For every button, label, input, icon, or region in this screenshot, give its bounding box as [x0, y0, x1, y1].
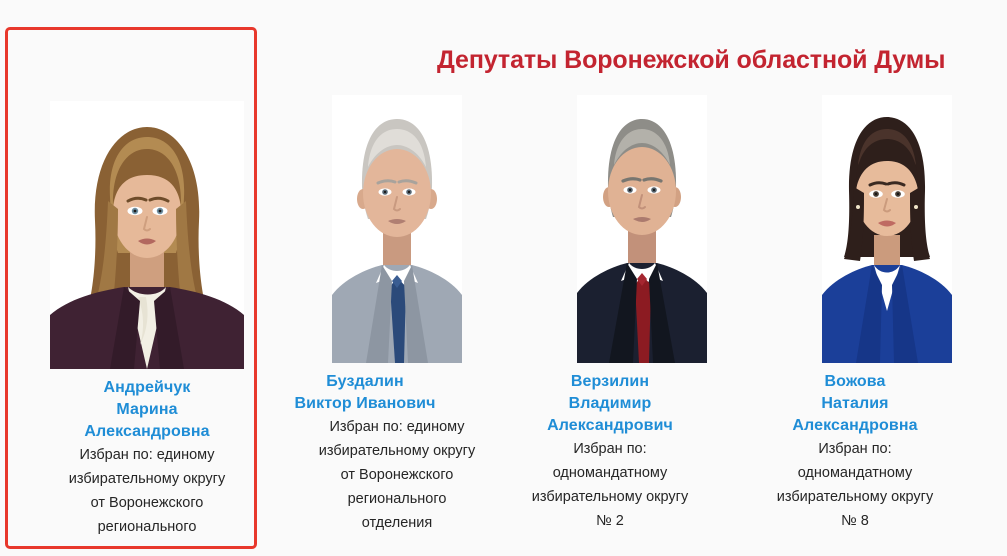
name-line: Марина: [50, 399, 244, 421]
deputy-name-buzdalin[interactable]: Буздалин Виктор Иванович: [265, 371, 465, 415]
desc-line: от Воронежского: [294, 463, 500, 487]
desc-line: Избран по: единому: [44, 443, 250, 467]
desc-line: № 8: [755, 509, 955, 533]
desc-line: Избран по:: [510, 437, 710, 461]
deputy-name-andreychuk[interactable]: Андрейчук Марина Александровна: [50, 377, 244, 443]
deputy-card-andreychuk[interactable]: Андрейчук Марина Александровна Избран по…: [50, 101, 244, 539]
desc-line: одномандатному: [755, 461, 955, 485]
deputy-photo-verzilin[interactable]: [577, 95, 707, 363]
deputy-card-vozhova[interactable]: Вожова Наталия Александровна Избран по: …: [790, 95, 984, 533]
desc-line: избирательному округу: [755, 485, 955, 509]
desc-line: регионального: [44, 515, 250, 539]
desc-line: № 2: [510, 509, 710, 533]
deputy-photo-vozhova[interactable]: [822, 95, 952, 363]
deputies-page: Депутаты Воронежской областной Думы: [0, 0, 1007, 556]
name-line: Владимир: [510, 393, 710, 415]
name-line: Андрейчук: [50, 377, 244, 399]
deputy-photo-andreychuk[interactable]: [50, 101, 244, 369]
name-line: Александровна: [50, 421, 244, 443]
desc-line: одномандатному: [510, 461, 710, 485]
name-line: Александрович: [510, 415, 710, 437]
deputy-photo-buzdalin[interactable]: [332, 95, 462, 363]
desc-line: избирательному округу: [44, 467, 250, 491]
desc-line: регионального: [294, 487, 500, 511]
page-title: Депутаты Воронежской областной Думы: [437, 45, 1007, 75]
name-line: Верзилин: [510, 371, 710, 393]
desc-line: от Воронежского: [44, 491, 250, 515]
name-line: Вожова: [755, 371, 955, 393]
deputy-card-buzdalin[interactable]: Буздалин Виктор Иванович Избран по: един…: [300, 95, 494, 535]
deputy-description-vozhova: Избран по: одномандатному избирательному…: [755, 437, 955, 533]
name-line: Виктор Иванович: [265, 393, 465, 415]
deputy-name-verzilin[interactable]: Верзилин Владимир Александрович: [510, 371, 710, 437]
desc-line: отделения: [294, 511, 500, 535]
deputy-description-verzilin: Избран по: одномандатному избирательному…: [510, 437, 710, 533]
desc-line: Избран по: единому: [294, 415, 500, 439]
name-line: Александровна: [755, 415, 955, 437]
desc-line: избирательному округу: [294, 439, 500, 463]
deputy-description-buzdalin: Избран по: единому избирательному округу…: [294, 415, 500, 535]
deputy-card-verzilin[interactable]: Верзилин Владимир Александрович Избран п…: [545, 95, 739, 533]
name-line: Наталия: [755, 393, 955, 415]
desc-line: избирательному округу: [510, 485, 710, 509]
deputy-description-andreychuk: Избран по: единому избирательному округу…: [44, 443, 250, 539]
desc-line: Избран по:: [755, 437, 955, 461]
deputy-name-vozhova[interactable]: Вожова Наталия Александровна: [755, 371, 955, 437]
name-line: Буздалин: [265, 371, 465, 393]
